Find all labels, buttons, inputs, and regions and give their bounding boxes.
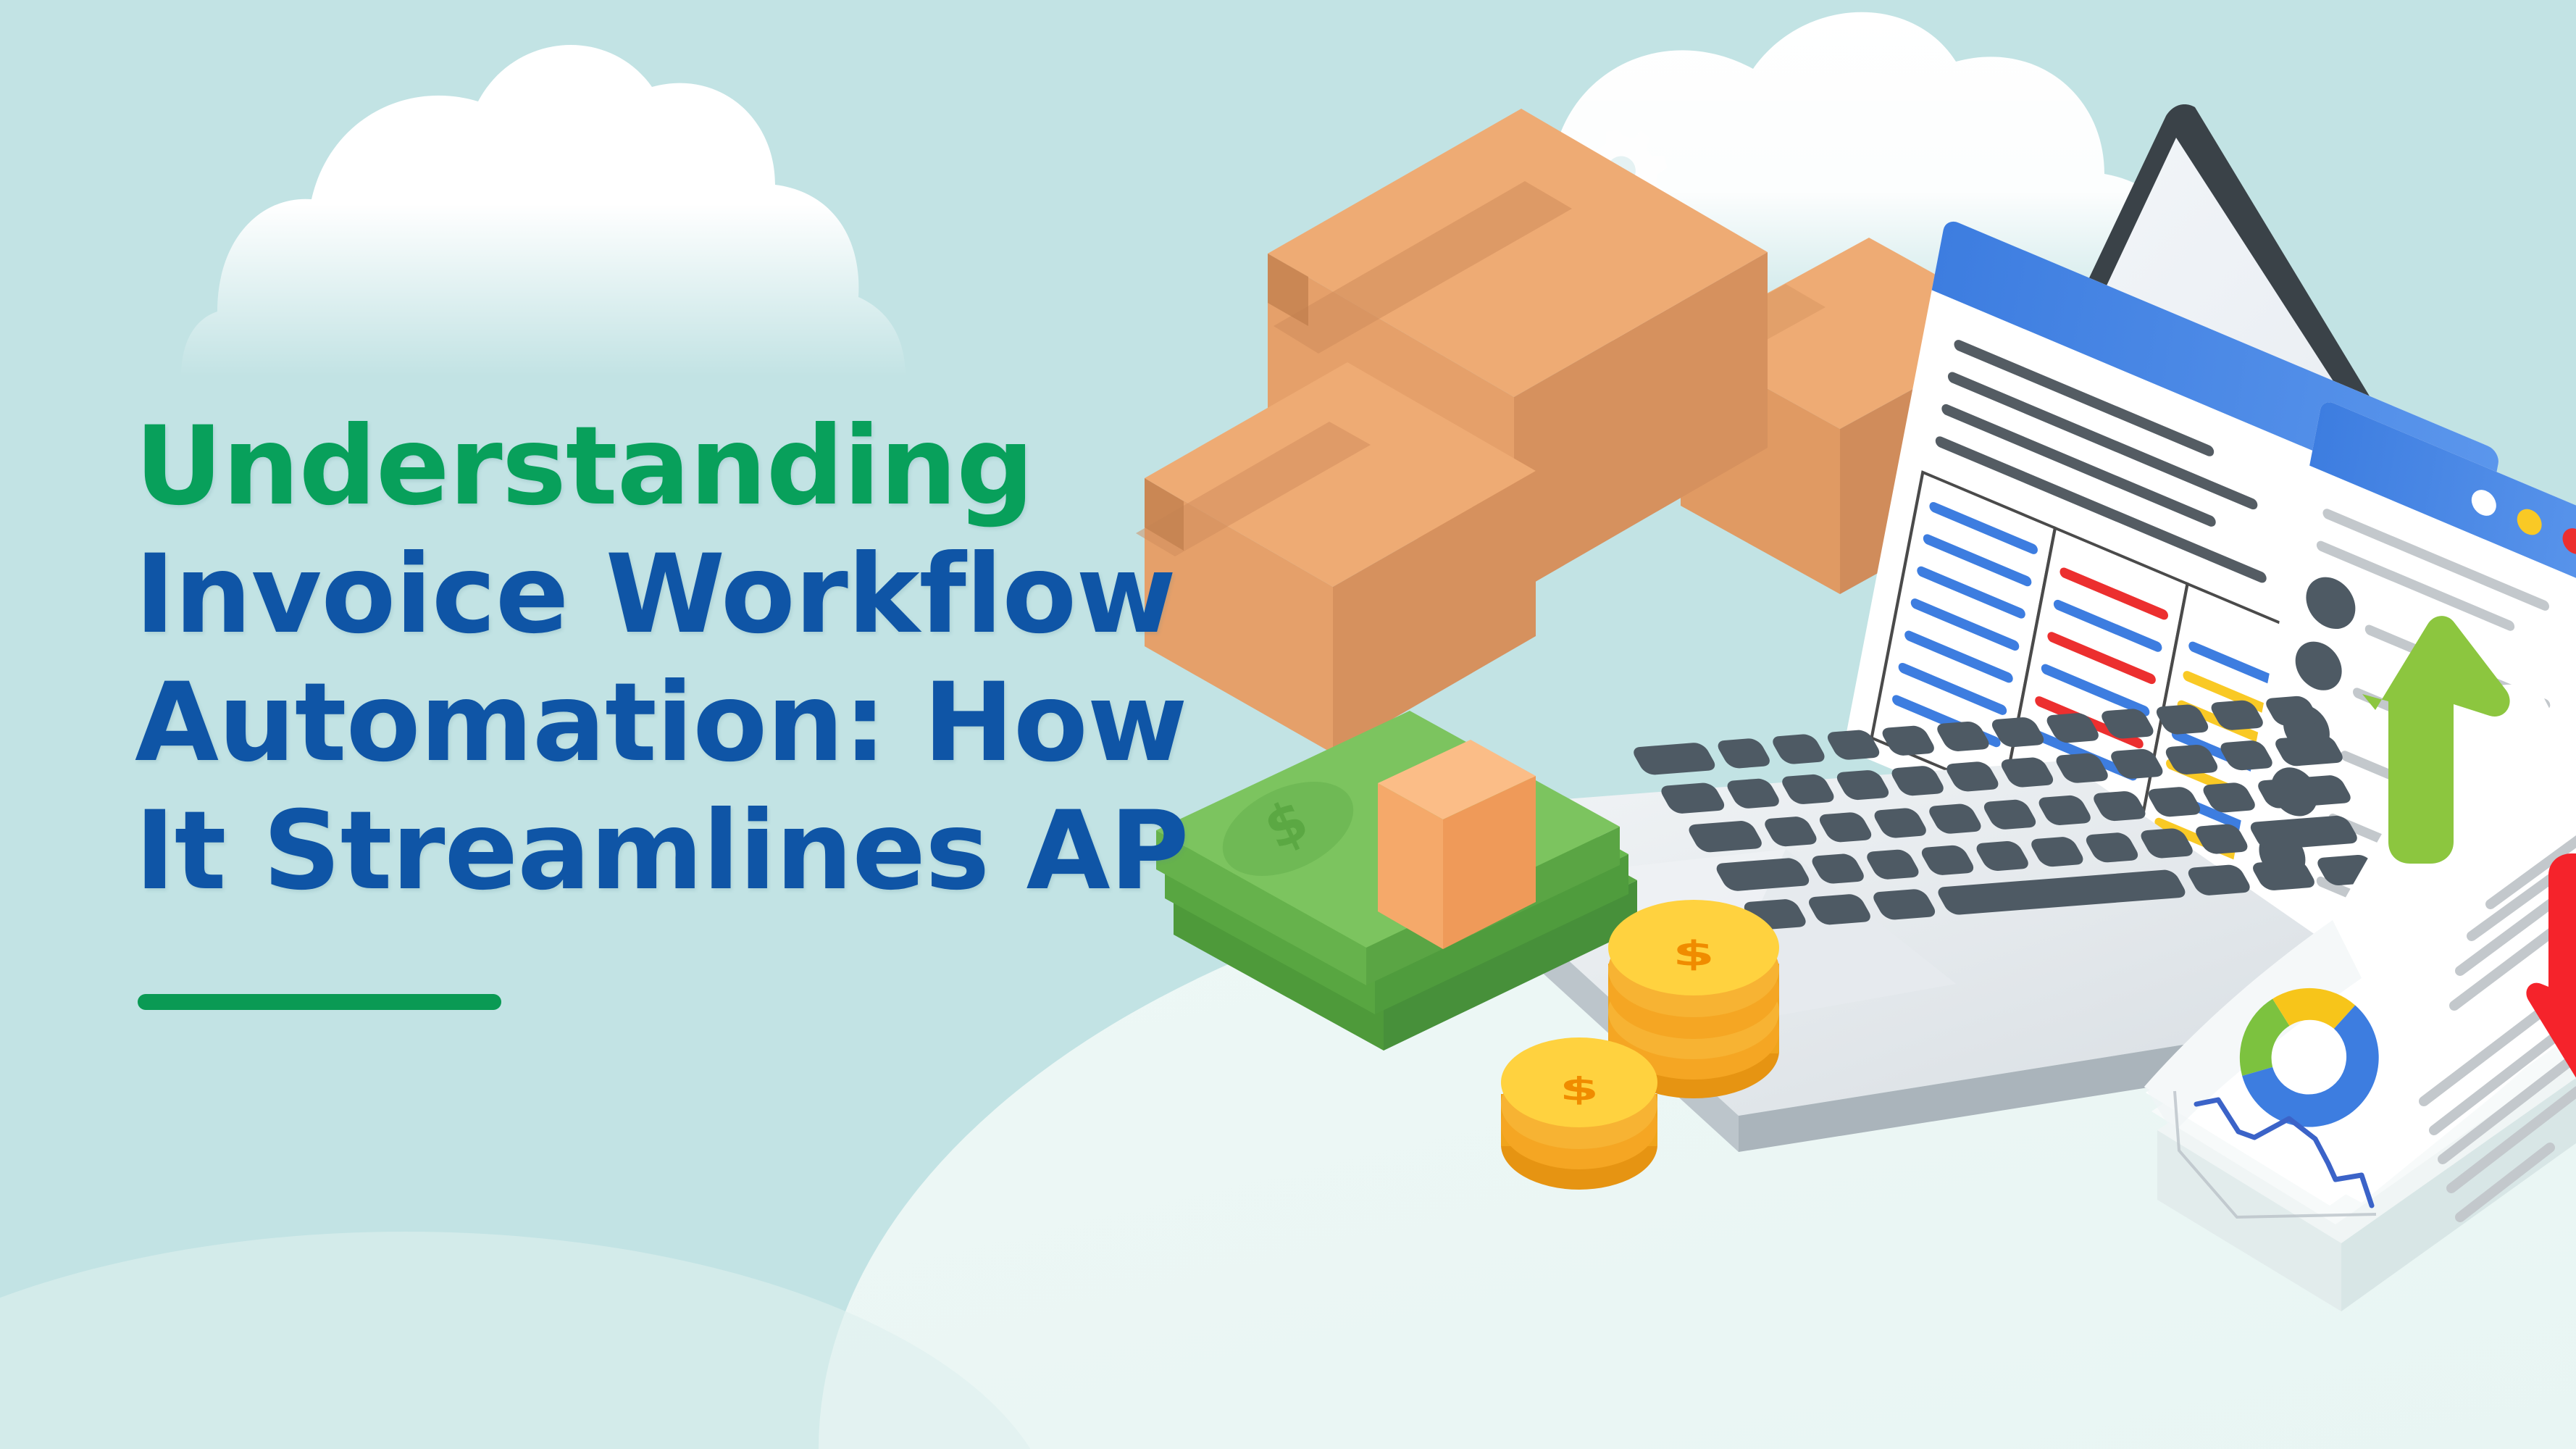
coin-dollar-symbol: $	[1560, 1070, 1599, 1107]
page-title: Understanding Invoice Workflow Automatio…	[135, 403, 1207, 916]
title-line-3: Automation: How	[135, 659, 1207, 788]
coin-dollar-symbol: $	[1673, 935, 1715, 974]
title-underline-rule	[138, 994, 501, 1010]
illustration-layer: $ $	[1130, 87, 2576, 1449]
hero-banner: $ $	[0, 0, 2576, 1449]
title-line-4: It Streamlines AP	[135, 788, 1207, 916]
title-line-1: Understanding	[135, 403, 1207, 531]
coin-stack-short: $	[1501, 1037, 1657, 1190]
title-line-2: Invoice Workflow	[135, 531, 1207, 659]
banknote-stack-icon: $	[1156, 711, 1637, 1051]
